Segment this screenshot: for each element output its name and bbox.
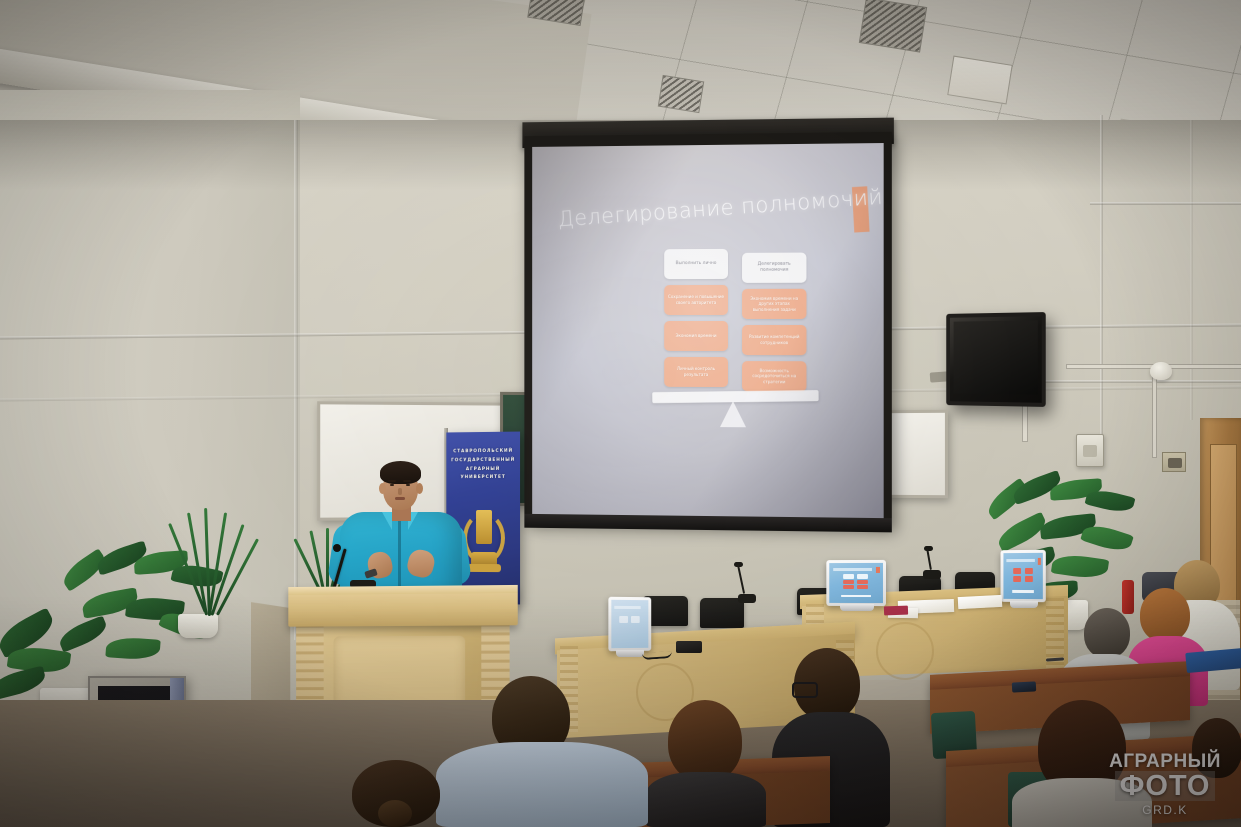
monitor-slide-title (834, 568, 873, 571)
monitor-stand (840, 604, 874, 611)
power-outlet-icon[interactable] (1162, 452, 1186, 472)
paper-sheet (958, 595, 1003, 609)
notebook (676, 641, 702, 653)
slide-node-item: Личный контроль результата (664, 357, 728, 387)
monitor-screen (829, 563, 883, 603)
smoke-detector-icon (1150, 362, 1172, 380)
monitor-slide-node (619, 616, 628, 623)
hair-bun (378, 800, 412, 827)
projection-screen: Делегирование полномочий Выполнить лично… (522, 118, 893, 531)
smartphone (1012, 681, 1036, 692)
lecture-hall-photo: Делегирование полномочий Выполнить лично… (0, 0, 1241, 827)
monitor-slide-accent (1038, 557, 1041, 564)
monitor-screen (611, 600, 648, 648)
whiteboard-right (884, 410, 948, 498)
monitor-slide-node (857, 580, 868, 584)
monitor-slide-node (1025, 568, 1034, 574)
wall-panel-joint (1100, 115, 1103, 435)
monitor-stand (1010, 601, 1038, 608)
slide-column-right: Делегировать полномочия Экономия времени… (742, 253, 806, 398)
monitor-slide-node (1013, 576, 1022, 582)
slide-node-item: Развитие компетенций сотрудников (742, 325, 806, 355)
eyeglasses-icon (792, 682, 818, 698)
monitor-slide-title (614, 606, 641, 610)
banner-line-1: СТАВРОПОЛЬСКИЙ (450, 448, 516, 457)
tv-screen (954, 320, 1038, 394)
wall-mounted-tv (946, 312, 1045, 407)
slide-node-item: Возможность сосредоточиться на стратегии (742, 361, 806, 391)
red-folder (884, 606, 908, 616)
scroll-icon (476, 510, 492, 544)
presenter-nose (398, 488, 402, 495)
monitor-slide-balance (841, 595, 871, 597)
monitor-slide-accent (876, 567, 880, 573)
lectern-top (288, 585, 517, 627)
flower-pot (178, 614, 218, 638)
presenter-eye (406, 484, 410, 486)
monitor-slide-node (843, 585, 854, 589)
plant-blade (326, 528, 329, 594)
slide-body: Выполнить лично Сохранение и повышение с… (532, 143, 883, 522)
presentation-slide: Делегирование полномочий Выполнить лично… (532, 143, 883, 522)
shirt-collar (382, 512, 392, 530)
monitor-slide-balance (1012, 590, 1034, 592)
presenter-mouth (395, 497, 405, 500)
watermark-line-3: GRD.K (1100, 803, 1230, 817)
desk-emboss (876, 622, 934, 680)
wall-corner (294, 120, 298, 640)
audience-torso (646, 772, 766, 827)
slide-node-item: Экономия времени (664, 321, 728, 351)
slide-node-item: Сохранение и повышение своего авторитета (664, 285, 728, 315)
banner-line-3: АГРАРНЫЙ (450, 465, 516, 474)
banner-line-2: ГОСУДАРСТВЕННЫЙ (450, 457, 516, 466)
photo-watermark: АГРАРНЫЙ ФОТО GRD.K (1100, 752, 1230, 818)
presenter-hair (380, 461, 421, 484)
banner-line-4: УНИВЕРСИТЕТ (450, 474, 516, 483)
watermark-line-2: ФОТО (1115, 771, 1216, 801)
air-vent-icon (658, 75, 704, 113)
wall-panel-joint (1090, 202, 1241, 205)
watermark-line-1: АГРАРНЫЙ (1100, 752, 1230, 771)
mic-base (738, 594, 756, 603)
audience-torso (436, 742, 648, 827)
slide-node-head: Выполнить лично (664, 249, 728, 279)
electrical-box (1076, 434, 1104, 467)
monitor-slide-node (1025, 576, 1034, 582)
monitor-slide-node (1013, 568, 1022, 574)
monitor-slide-node (857, 585, 868, 589)
audience-hair (668, 700, 742, 782)
monitor-screen (1003, 553, 1042, 599)
audience-hair (1140, 588, 1190, 642)
slide-node-head: Делегировать полномочия (742, 253, 806, 283)
desk-monitor-right (1001, 550, 1046, 602)
monitor-slide-node (843, 580, 854, 584)
podium-mic-head (333, 544, 341, 552)
screen-frame: Делегирование полномочий Выполнить лично… (524, 132, 891, 529)
chair[interactable] (700, 598, 744, 628)
monitor-stand (616, 650, 644, 657)
presenter-eye (390, 484, 394, 486)
fire-extinguisher-icon (1122, 580, 1134, 614)
presenter-ear (379, 483, 386, 494)
presenter-eyebrow (403, 480, 411, 482)
presenter-eyebrow (388, 480, 396, 482)
wall-panel-joint (1190, 120, 1193, 420)
presenter-ear (416, 483, 423, 494)
monitor-slide-node (857, 574, 868, 578)
slide-node-item: Экономия времени на других этапах выполн… (742, 289, 806, 319)
balance-fulcrum-icon (720, 401, 746, 427)
screen-surface: Делегирование полномочий Выполнить лично… (532, 143, 883, 522)
monitor-slide-title (1007, 558, 1035, 561)
slide-column-left: Выполнить лично Сохранение и повышение с… (664, 249, 728, 393)
mic-base (923, 570, 941, 579)
monitor-slide-node (631, 616, 640, 623)
audience-hair (1084, 608, 1130, 658)
monitor-slide-node (843, 574, 854, 578)
desk-monitor-center (826, 560, 886, 606)
ribbon-icon (467, 564, 501, 572)
wall-conduit (1152, 368, 1157, 458)
desk-monitor-left (608, 597, 651, 652)
banner-text: СТАВРОПОЛЬСКИЙ ГОСУДАРСТВЕННЫЙ АГРАРНЫЙ … (450, 448, 516, 484)
